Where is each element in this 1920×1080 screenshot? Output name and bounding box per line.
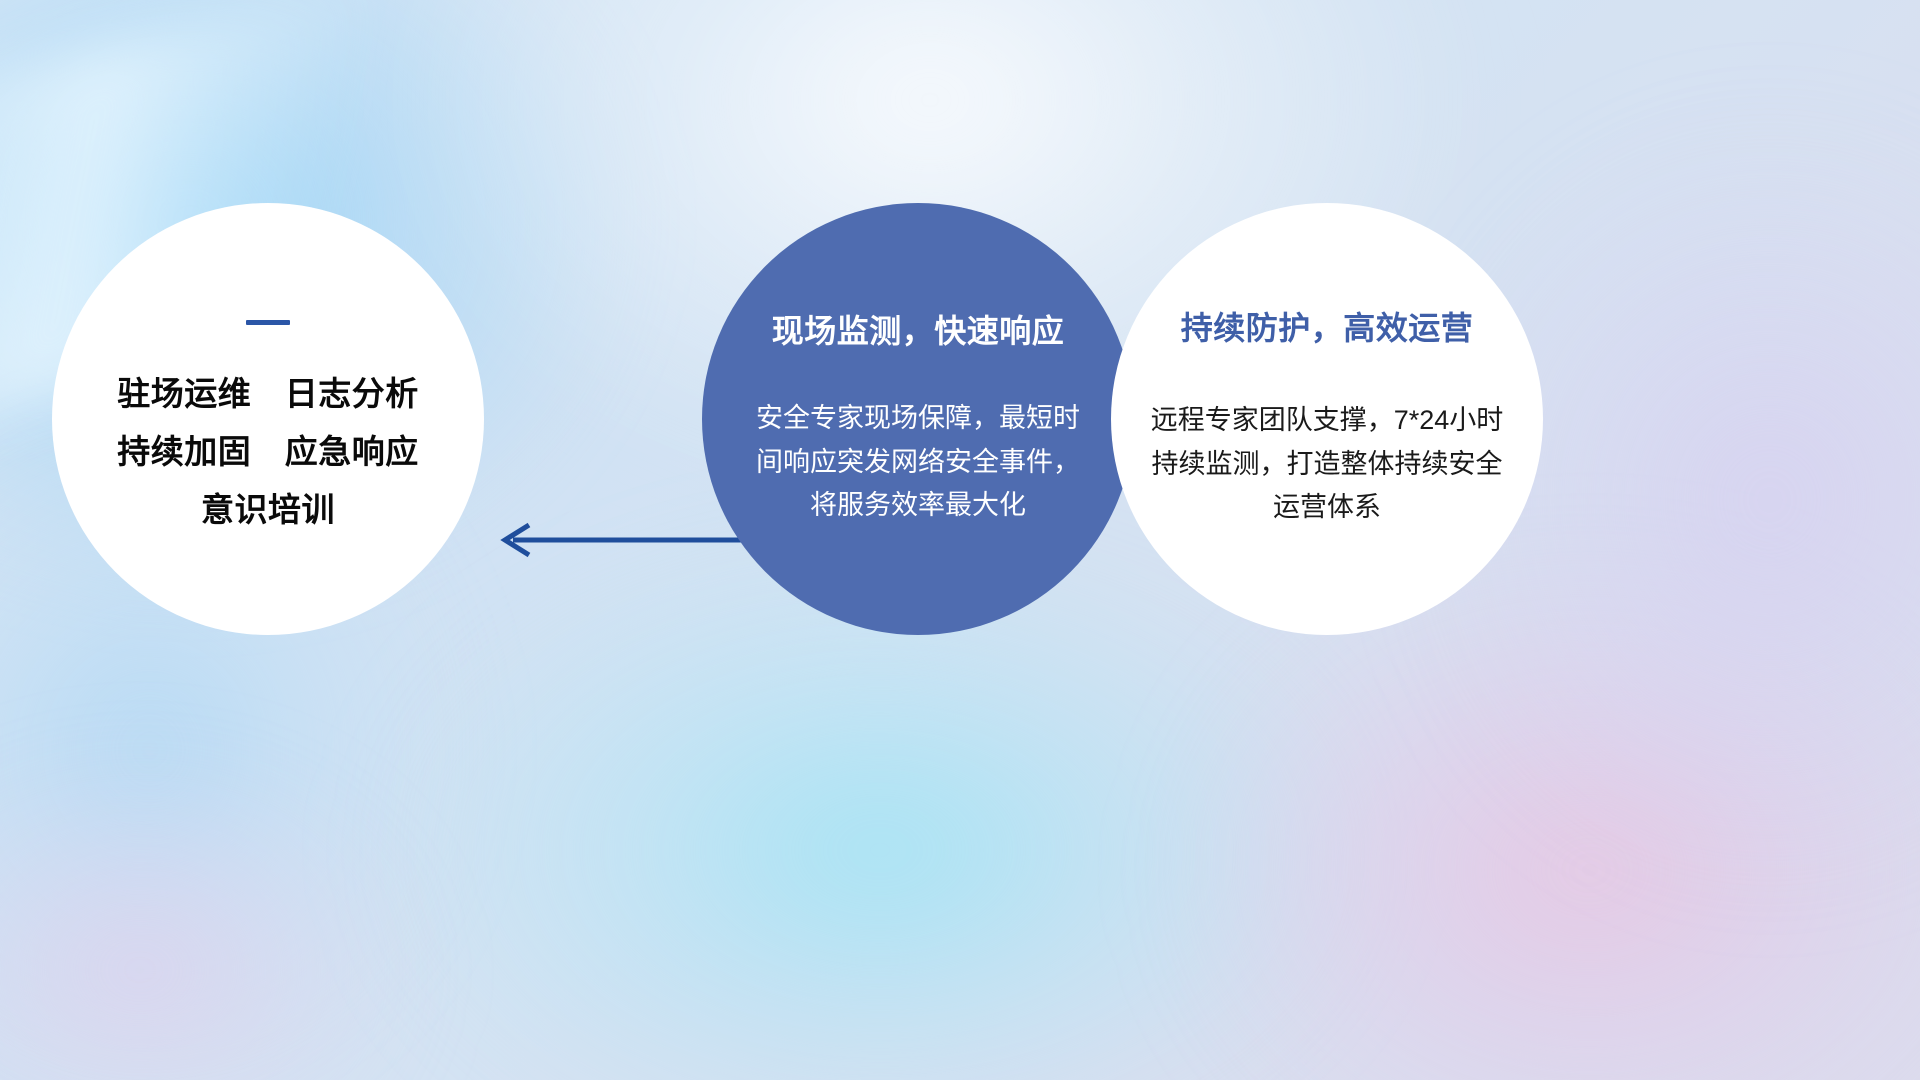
capability-line-3: 意识培训: [117, 481, 419, 539]
capabilities-circle[interactable]: 驻场运维 日志分析 持续加固 应急响应 意识培训: [52, 203, 484, 635]
slide-canvas: 现场监测，快速响应 安全专家现场保障，最短时间响应突发网络安全事件，将服务效率最…: [0, 0, 1920, 1080]
onsite-monitoring-circle[interactable]: 现场监测，快速响应 安全专家现场保障，最短时间响应突发网络安全事件，将服务效率最…: [702, 203, 1134, 635]
divider-dash: [246, 320, 290, 325]
continuous-protection-title: 持续防护，高效运营: [1181, 303, 1474, 349]
continuous-protection-body: 远程专家团队支撑，7*24小时持续监测，打造整体持续安全运营体系: [1147, 399, 1507, 530]
continuous-protection-circle[interactable]: 持续防护，高效运营 远程专家团队支撑，7*24小时持续监测，打造整体持续安全运营…: [1111, 203, 1543, 635]
capabilities-list: 驻场运维 日志分析 持续加固 应急响应 意识培训: [117, 365, 419, 538]
background-glow-pink-bottom-right: [1180, 560, 1920, 1080]
background-glow-pink-bottom-left: [0, 760, 420, 1080]
onsite-monitoring-body: 安全专家现场保障，最短时间响应突发网络安全事件，将服务效率最大化: [753, 397, 1083, 528]
onsite-monitoring-title: 现场监测，快速响应: [772, 306, 1065, 352]
capability-line-1: 驻场运维 日志分析: [117, 365, 419, 423]
capability-line-2: 持续加固 应急响应: [117, 423, 419, 481]
